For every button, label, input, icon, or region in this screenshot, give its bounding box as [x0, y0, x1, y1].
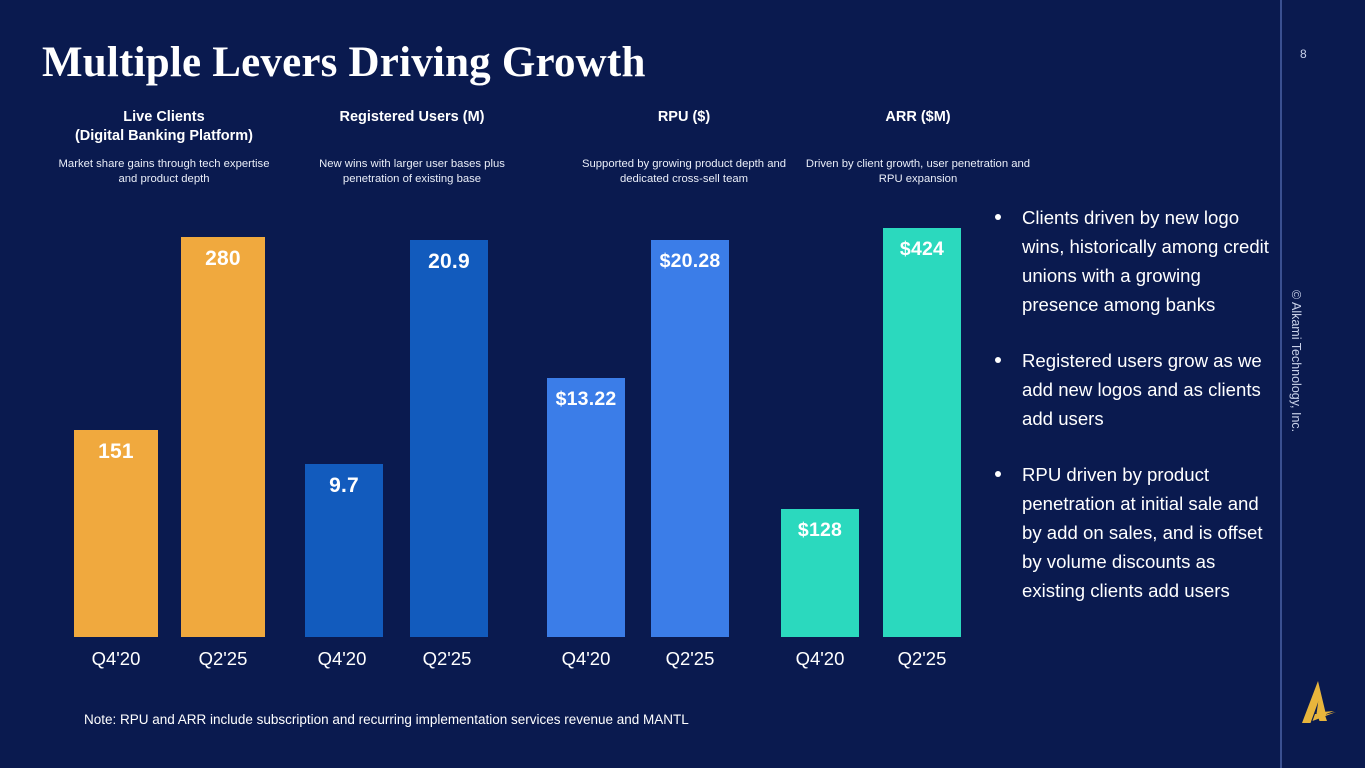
bullet-text: RPU driven by product penetration at ini…	[1022, 464, 1263, 601]
x-label-arr-q420: Q4'20	[781, 648, 859, 670]
bar-chart: 151 280 9.7 20.9 $13.22 $20.28 $128 $424…	[0, 0, 1000, 768]
list-item: RPU driven by product penetration at ini…	[988, 460, 1280, 605]
bar-arr-q225[interactable]: $424	[883, 228, 961, 637]
bar-value-label: 20.9	[410, 250, 488, 274]
list-item: Registered users grow as we add new logo…	[988, 346, 1280, 433]
bullet-text: Registered users grow as we add new logo…	[1022, 350, 1262, 429]
x-label-registered-users-q420: Q4'20	[303, 648, 381, 670]
x-label-registered-users-q225: Q2'25	[408, 648, 486, 670]
bar-rpu-q225[interactable]: $20.28	[651, 240, 729, 637]
bullet-list: Clients driven by new logo wins, histori…	[988, 203, 1280, 632]
x-label-rpu-q420: Q4'20	[547, 648, 625, 670]
bar-value-label: 280	[181, 247, 265, 271]
slide-root: Multiple Levers Driving Growth Live Clie…	[0, 0, 1365, 768]
bar-value-label: 151	[74, 440, 158, 464]
chart-footnote: Note: RPU and ARR include subscription a…	[84, 712, 689, 727]
list-item: Clients driven by new logo wins, histori…	[988, 203, 1280, 319]
bullet-dot-icon	[995, 357, 1001, 363]
bar-value-label: $20.28	[651, 250, 729, 273]
x-label-arr-q225: Q2'25	[883, 648, 961, 670]
x-label-live-clients-q420: Q4'20	[74, 648, 158, 670]
page-number: 8	[1300, 47, 1307, 61]
bar-value-label: 9.7	[305, 474, 383, 498]
bar-registered-users-q225[interactable]: 20.9	[410, 240, 488, 637]
bar-arr-q420[interactable]: $128	[781, 509, 859, 637]
bar-live-clients-q420[interactable]: 151	[74, 430, 158, 637]
bar-value-label: $128	[781, 519, 859, 542]
x-label-rpu-q225: Q2'25	[651, 648, 729, 670]
alkami-a-logo	[1296, 678, 1340, 728]
x-label-live-clients-q225: Q2'25	[181, 648, 265, 670]
bar-registered-users-q420[interactable]: 9.7	[305, 464, 383, 637]
bar-live-clients-q225[interactable]: 280	[181, 237, 265, 637]
bullet-dot-icon	[995, 471, 1001, 477]
bar-value-label: $424	[883, 238, 961, 261]
bullet-dot-icon	[995, 214, 1001, 220]
right-rail-divider	[1280, 0, 1282, 768]
copyright-notice: © Alkami Technology, Inc.	[1289, 290, 1303, 432]
bar-value-label: $13.22	[547, 388, 625, 411]
bullet-text: Clients driven by new logo wins, histori…	[1022, 207, 1269, 315]
bar-rpu-q420[interactable]: $13.22	[547, 378, 625, 637]
